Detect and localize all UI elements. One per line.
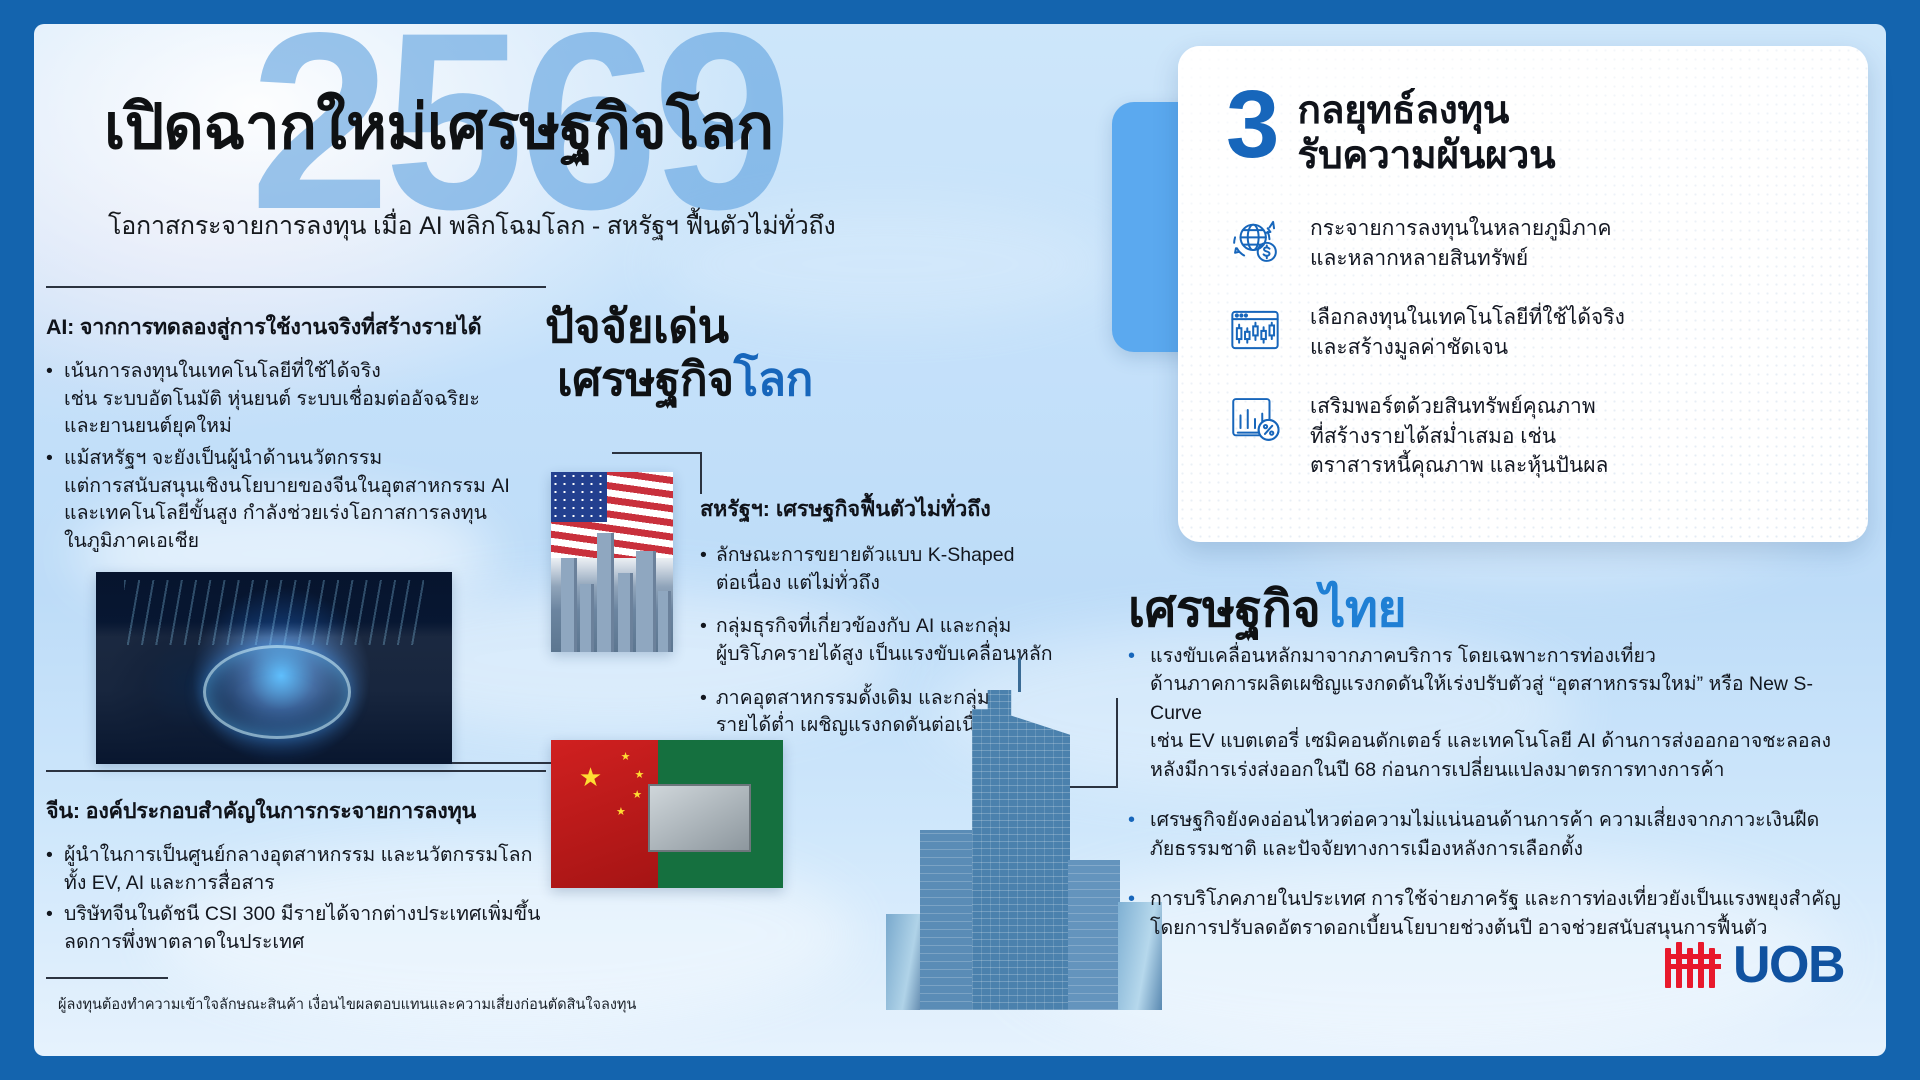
- panel-divider: [46, 286, 546, 288]
- mahanakhon-tower: [972, 690, 1070, 1010]
- skyline-tower: [561, 558, 577, 652]
- bullet-dot-icon: •: [700, 542, 707, 597]
- china-flag-star: ★: [616, 807, 626, 818]
- strategy-list: กระจายการลงทุนในหลายภูมิภาค และหลากหลายส…: [1226, 212, 1828, 481]
- strategy-item: กระจายการลงทุนในหลายภูมิภาค และหลากหลายส…: [1226, 212, 1828, 274]
- uob-logo-mark-icon: [1665, 942, 1721, 988]
- china-flag-red: [551, 740, 658, 888]
- usa-flag-skyline-image: [551, 472, 673, 652]
- bullet-dot-icon: •: [46, 901, 55, 956]
- page-title: เปิดฉากใหม่เศรษฐกิจโลก: [104, 96, 774, 160]
- list-item: • ผู้นำในการเป็นศูนย์กลางอุตสาหกรรม และน…: [46, 842, 546, 897]
- uob-logo-bar: [1665, 954, 1721, 959]
- ai-panel-bullets: • เน้นการลงทุนในเทคโนโลยีที่ใช้ได้จริง เ…: [46, 358, 546, 556]
- china-panel-bullets: • ผู้นำในการเป็นศูนย์กลางอุตสาหกรรม และน…: [46, 842, 546, 957]
- list-item-text: เศรษฐกิจยังคงอ่อนไหวต่อความไม่แน่นอนด้าน…: [1150, 806, 1819, 863]
- list-item: • เน้นการลงทุนในเทคโนโลยีที่ใช้ได้จริง เ…: [46, 358, 546, 441]
- bullet-dot-icon: •: [46, 842, 55, 897]
- strategy-item: เลือกลงทุนในเทคโนโลยีที่ใช้ได้จริง และสร…: [1226, 301, 1828, 363]
- bullet-dot-icon: •: [1128, 806, 1138, 863]
- bullet-dot-icon: •: [1128, 642, 1138, 784]
- skyline-tower: [597, 533, 614, 652]
- factors-heading-line2: เศรษฐกิจโลก: [545, 353, 813, 406]
- list-item: • แม้สหรัฐฯ จะยังเป็นผู้นำด้านนวัตกรรม แ…: [46, 445, 546, 556]
- uob-logo-bar: [1665, 964, 1721, 969]
- uob-logo: UOB: [1665, 935, 1844, 995]
- strategy-title-line2: รับความผันผวน: [1297, 133, 1555, 178]
- skyline-tower: [920, 830, 978, 1010]
- china-flag-star: ★: [635, 770, 645, 781]
- skyline-tower: [618, 573, 633, 652]
- ai-panel-title: AI: จากการทดลองสู่การใช้งานจริงที่สร้างร…: [46, 310, 546, 344]
- bullet-dot-icon: •: [700, 685, 707, 740]
- bullet-dot-icon: •: [46, 358, 55, 441]
- connector-line-horizontal: [612, 452, 702, 454]
- factors-heading-line1: ปัจจัยเด่น: [545, 300, 729, 352]
- usa-flag-canton: [551, 472, 607, 522]
- china-flag-chip-image: ★ ★ ★ ★ ★: [551, 740, 783, 888]
- disclaimer-text: ผู้ลงทุนต้องทำความเข้าใจลักษณะสินค้า เงื…: [58, 993, 636, 1016]
- usa-panel-title: สหรัฐฯ: เศรษฐกิจฟื้นตัวไม่ทั่วถึง: [700, 492, 1090, 526]
- panel-divider-short: [46, 977, 168, 979]
- list-item-text: บริษัทจีนในดัชนี CSI 300 มีรายได้จากต่าง…: [64, 901, 546, 956]
- china-flag-star: ★: [621, 752, 631, 763]
- factors-heading-highlight: โลก: [734, 353, 813, 405]
- list-item: • เศรษฐกิจยังคงอ่อนไหวต่อความไม่แน่นอนด้…: [1128, 806, 1863, 863]
- ai-car-cockpit-image: [96, 572, 452, 764]
- infographic-root: 2569 เปิดฉากใหม่เศรษฐกิจโลก โอกาสกระจายก…: [0, 0, 1920, 1080]
- strategy-item-text: เลือกลงทุนในเทคโนโลยีที่ใช้ได้จริง และสร…: [1310, 301, 1625, 363]
- skyline-tower: [886, 914, 924, 1010]
- page-subtitle: โอกาสกระจายการลงทุน เมื่อ AI พลิกโฉมโลก …: [108, 206, 836, 246]
- list-item: • บริษัทจีนในดัชนี CSI 300 มีรายได้จากต่…: [46, 901, 546, 956]
- ai-panel: AI: จากการทดลองสู่การใช้งานจริงที่สร้างร…: [46, 286, 546, 560]
- cpu-chip: [648, 784, 750, 852]
- list-item: • กลุ่มธุรกิจที่เกี่ยวข้องกับ AI และกลุ่…: [700, 613, 1090, 668]
- list-item: • แรงขับเคลื่อนหลักมาจากภาคบริการ โดยเฉพ…: [1128, 642, 1863, 784]
- bullet-dot-icon: •: [700, 613, 707, 668]
- connector-line-vertical: [700, 452, 702, 494]
- skyline-tower: [636, 551, 656, 652]
- strategy-item-text: กระจายการลงทุนในหลายภูมิภาค และหลากหลายส…: [1310, 212, 1612, 274]
- list-item-text: ลักษณะการขยายตัวแบบ K-Shaped ต่อเนื่อง แ…: [716, 542, 1015, 597]
- list-item: • ลักษณะการขยายตัวแบบ K-Shaped ต่อเนื่อง…: [700, 542, 1090, 597]
- bullet-dot-icon: •: [1128, 885, 1138, 942]
- china-panel: จีน: องค์ประกอบสำคัญในการกระจายการลงทุน …: [46, 770, 546, 979]
- candlestick-chart-icon: [1226, 301, 1284, 359]
- panel-divider: [46, 770, 546, 772]
- globe-dollar-icon: [1226, 212, 1284, 270]
- strategy-title-line1: กลยุทธ์ลงทุน: [1297, 88, 1555, 133]
- strategy-card-title: กลยุทธ์ลงทุน รับความผันผวน: [1297, 84, 1555, 178]
- strategy-item: เสริมพอร์ตด้วยสินทรัพย์คุณภาพ ที่สร้างรา…: [1226, 390, 1828, 481]
- china-panel-title: จีน: องค์ประกอบสำคัญในการกระจายการลงทุน: [46, 794, 546, 828]
- skyline-tower: [580, 584, 593, 652]
- thai-economy-heading: เศรษฐกิจไทย: [1128, 570, 1406, 649]
- list-item-text: เน้นการลงทุนในเทคโนโลยีที่ใช้ได้จริง เช่…: [64, 358, 546, 441]
- thai-panel-bullets: • แรงขับเคลื่อนหลักมาจากภาคบริการ โดยเฉพ…: [1128, 642, 1863, 964]
- factors-heading: ปัจจัยเด่น เศรษฐกิจโลก: [545, 300, 813, 406]
- strategy-card-header: 3 กลยุทธ์ลงทุน รับความผันผวน: [1226, 84, 1828, 178]
- list-item-text: แรงขับเคลื่อนหลักมาจากภาคบริการ โดยเฉพาะ…: [1150, 642, 1863, 784]
- tower-antenna: [1018, 658, 1021, 692]
- china-flag-star: ★: [579, 764, 602, 790]
- strategy-item-text: เสริมพอร์ตด้วยสินทรัพย์คุณภาพ ที่สร้างรา…: [1310, 390, 1608, 481]
- list-item-text: ผู้นำในการเป็นศูนย์กลางอุตสาหกรรม และนวั…: [64, 842, 546, 897]
- thai-economy-heading-highlight: ไทย: [1320, 581, 1406, 637]
- strategy-card: 3 กลยุทธ์ลงทุน รับความผันผวน: [1178, 46, 1868, 542]
- list-item-text: แม้สหรัฐฯ จะยังเป็นผู้นำด้านนวัตกรรม แต่…: [64, 445, 546, 556]
- list-item: • การบริโภคภายในประเทศ การใช้จ่ายภาครัฐ …: [1128, 885, 1863, 942]
- bullet-dot-icon: •: [46, 445, 55, 556]
- strategy-count: 3: [1226, 84, 1275, 167]
- skyline-tower: [658, 591, 670, 652]
- china-flag-star: ★: [632, 790, 642, 801]
- list-item-text: การบริโภคภายในประเทศ การใช้จ่ายภาครัฐ แล…: [1150, 885, 1841, 942]
- uob-logo-text: UOB: [1733, 935, 1844, 995]
- list-item-text: กลุ่มธุรกิจที่เกี่ยวข้องกับ AI และกลุ่ม …: [716, 613, 1053, 668]
- skyline-tower: [1068, 860, 1120, 1010]
- bar-chart-percent-icon: [1226, 390, 1284, 448]
